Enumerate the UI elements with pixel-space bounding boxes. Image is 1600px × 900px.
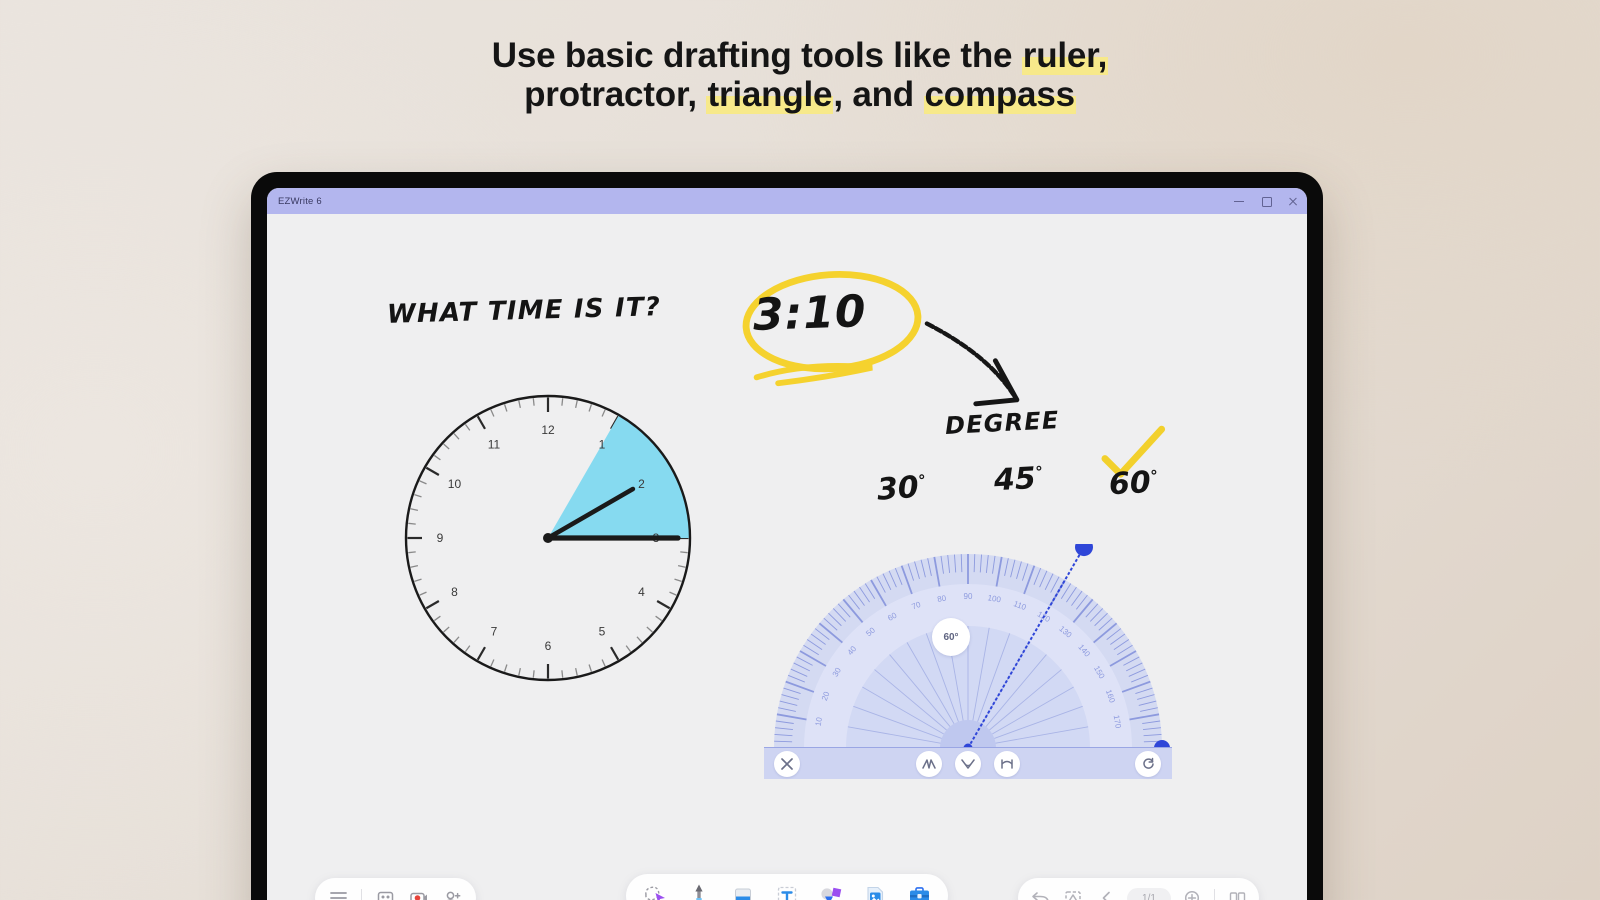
svg-text:7: 7 (491, 625, 498, 639)
headline-line-2-text: protractor, (524, 75, 706, 114)
toolbox-icon[interactable] (900, 877, 938, 900)
maximize-icon[interactable] (1260, 195, 1272, 207)
headline-highlight-compass: compass (924, 75, 1076, 114)
headline-highlight-ruler: ruler, (1022, 36, 1108, 75)
toolbar-divider-right (1214, 889, 1215, 900)
protractor-tool-buttons (916, 751, 1020, 777)
redo-icon[interactable] (1058, 883, 1088, 900)
protractor-toolbar (764, 747, 1172, 779)
page-overview-icon[interactable] (1222, 883, 1252, 900)
protractor-close-icon[interactable] (774, 751, 800, 777)
svg-text:8: 8 (451, 585, 458, 599)
menu-icon[interactable] (323, 883, 353, 900)
headline-line-2: protractor, triangle, and compass (0, 75, 1600, 114)
text-icon[interactable] (768, 877, 806, 900)
clock-drawing: 121234567891011 (387, 377, 709, 699)
protractor-rotate-icon[interactable] (1135, 751, 1161, 777)
shapes-icon[interactable] (812, 877, 850, 900)
protractor-draw-angle-icon[interactable] (955, 751, 981, 777)
image-icon[interactable] (856, 877, 894, 900)
close-icon[interactable] (1287, 195, 1299, 207)
protractor-draw-line-icon[interactable] (916, 751, 942, 777)
svg-text:11: 11 (488, 437, 501, 451)
toolbar-left (315, 878, 476, 900)
svg-text:1: 1 (599, 437, 606, 451)
svg-text:12: 12 (541, 423, 555, 437)
svg-text:9: 9 (437, 531, 444, 545)
tablet-screen: EZWrite 6 121234567891011 WHAT TIME IS I… (267, 188, 1307, 900)
headline-line-1: Use basic drafting tools like the ruler, (0, 36, 1600, 75)
add-user-icon[interactable] (438, 883, 468, 900)
toolbar-divider (361, 889, 362, 900)
window-titlebar: EZWrite 6 (267, 188, 1307, 214)
screenshot-icon[interactable] (370, 883, 400, 900)
page-indicator[interactable]: 1/1 (1127, 888, 1171, 900)
ink-answer-time: 3:10 (752, 286, 867, 341)
minimize-icon[interactable] (1233, 195, 1245, 207)
toolbar-right: 1/1 (1018, 878, 1259, 900)
headline-highlight-triangle: triangle (706, 75, 833, 114)
headline-line-2-mid: , and (833, 75, 923, 114)
ink-angle-45: 45° (993, 461, 1044, 499)
protractor-tool[interactable]: 1020304050607080901001101201301401501601… (764, 544, 1172, 784)
whiteboard-canvas[interactable]: 121234567891011 WHAT TIME IS IT? 3:10 DE… (267, 214, 1307, 900)
protractor-angle-badge: 60° (932, 618, 970, 656)
prev-page-icon[interactable] (1091, 883, 1121, 900)
toolbar-center (626, 874, 948, 900)
pen-icon[interactable] (680, 877, 718, 900)
ink-angle-60: 60° (1108, 465, 1159, 503)
svg-text:4: 4 (638, 585, 645, 599)
ink-question: WHAT TIME IS IT? (387, 292, 662, 330)
window-controls (1233, 195, 1299, 207)
svg-text:90: 90 (964, 592, 973, 601)
eraser-icon[interactable] (724, 877, 762, 900)
record-icon[interactable] (404, 883, 434, 900)
ink-degree-label: DEGREE (944, 406, 1060, 440)
svg-text:10: 10 (448, 477, 462, 491)
tablet-device: EZWrite 6 121234567891011 WHAT TIME IS I… (251, 172, 1323, 900)
page-title: Use basic drafting tools like the ruler,… (0, 36, 1600, 114)
window-title: EZWrite 6 (278, 196, 322, 207)
svg-text:2: 2 (638, 477, 645, 491)
svg-text:5: 5 (599, 625, 606, 639)
protractor-draw-arc-icon[interactable] (994, 751, 1020, 777)
ink-angle-30: 30° (876, 469, 928, 507)
add-page-icon[interactable] (1177, 883, 1207, 900)
undo-icon[interactable] (1025, 883, 1055, 900)
headline-line-1-text: Use basic drafting tools like the (492, 36, 1022, 75)
svg-text:6: 6 (545, 639, 552, 653)
select-icon[interactable] (636, 877, 674, 900)
